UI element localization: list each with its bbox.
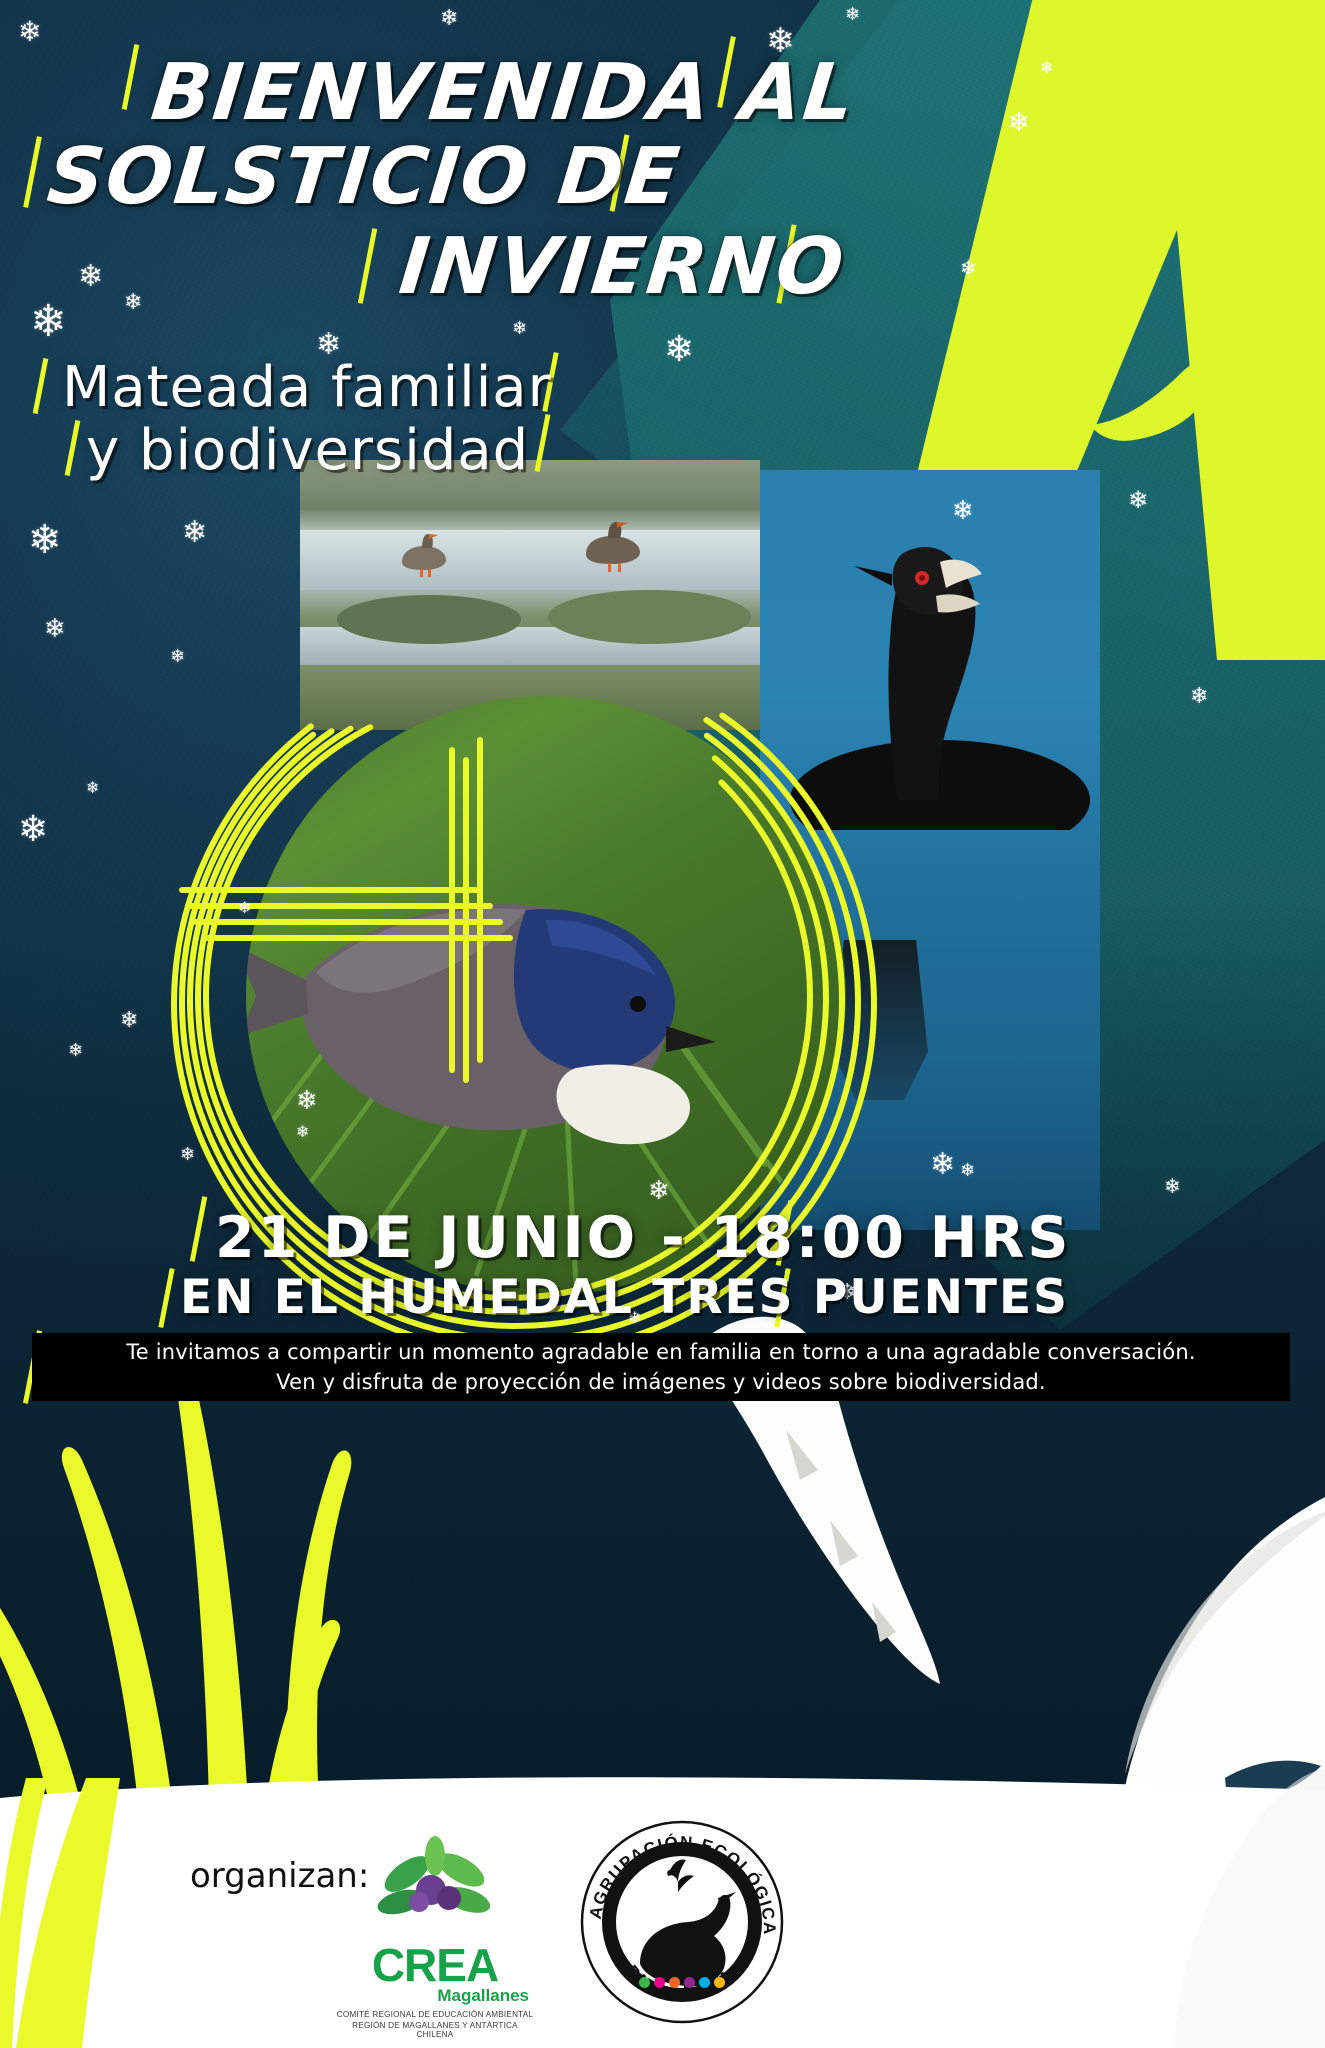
title-line-1: BIENVENIDA AL [147,48,860,138]
snowflake-icon: ❄ [296,1124,309,1140]
event-date-time: 21 DE JUNIO - 18:00 HRS [215,1205,1071,1271]
white-bird-tail [1025,1768,1325,2048]
snowflake-icon: ❄ [1164,1176,1181,1196]
yellow-grass-accent [0,1778,170,2048]
snowflake-icon: ❄ [170,648,185,666]
crea-logo: CREA Magallanes COMITÉ REGIONAL DE EDUCA… [335,1830,535,2035]
snowflake-icon: ❄ [120,1010,138,1032]
snowflake-icon: ❄ [86,780,99,796]
snowflake-icon: ❄ [124,292,142,314]
snowflake-icon: ❄ [952,498,974,524]
snowflake-icon: ❄ [18,812,48,848]
snowflake-icon: ❄ [960,258,977,278]
snowflake-icon: ❄ [845,6,860,24]
snowflake-icon: ❄ [296,1088,318,1114]
goose-silhouette-icon [578,520,648,574]
aep-color-dots [639,1977,725,1988]
snowflake-icon: ❄ [30,300,67,344]
title-line-2: SOLSTICIO DE [43,132,685,222]
subtitle-line-2: y biodiversidad [86,418,529,483]
snowflake-icon: ❄ [440,8,458,30]
crea-wordmark: CREA [335,1938,535,1992]
snowflake-icon: ❄ [960,1162,975,1180]
description-banner: Te invitamos a compartir un momento agra… [32,1333,1290,1401]
snowflake-icon: ❄ [512,320,527,338]
crea-subtitle-line-1: COMITÉ REGIONAL DE EDUCACIÓN AMBIENTAL [335,2010,535,2019]
snowflake-icon: ❄ [28,520,62,560]
snowflake-icon: ❄ [180,1146,195,1164]
goose-silhouette-icon [396,532,454,578]
event-venue: EN EL HUMEDAL TRES PUENTES [180,1270,1069,1325]
winter-solstice-poster: ❄ ❄ ❄ ❄ ❄ ❄ ❄ ❄ ❄ ❄ ❄ ❄ ❄ ❄ ❄ ❄ ❄ ❄ ❄ ❄ … [0,0,1325,2048]
banner-line-2: Ven y disfruta de proyección de imágenes… [276,1367,1046,1397]
snowflake-icon: ❄ [648,1178,670,1204]
snowflake-icon: ❄ [238,900,251,916]
agrupacion-ecologica-patagonica-logo: AGRUPACIÓN ECOLÓGICA PATAGÓNICA [578,1818,786,2028]
snowflake-icon: ❄ [1008,110,1030,136]
snowflake-icon: ❄ [44,616,66,642]
crea-berries-leaves-icon [335,1828,535,1938]
snowflake-icon: ❄ [18,18,41,46]
snowflake-icon: ❄ [182,518,207,548]
title-line-3: INVIERNO [395,222,849,312]
snowflake-icon: ❄ [68,1042,83,1060]
footer-organizers: organizan: CREA Magallanes COMITÉ REGION… [0,1808,1325,2048]
subtitle-line-1: Mateada familiar [62,355,552,420]
snowflake-icon: ❄ [664,332,694,368]
snowflake-icon: ❄ [78,262,103,292]
snowflake-icon: ❄ [1040,60,1053,76]
crea-subtitle-line-2: REGIÓN DE MAGALLANES Y ANTÁRTICA CHILENA [335,2021,535,2039]
crea-region-label: Magallanes [335,1986,535,2006]
banner-line-1: Te invitamos a compartir un momento agra… [126,1337,1195,1367]
snowflake-icon: ❄ [1128,488,1148,512]
snowflake-icon: ❄ [1190,686,1208,708]
snowflake-icon: ❄ [930,1150,955,1180]
aep-logo-graphic: AGRUPACIÓN ECOLÓGICA PATAGÓNICA [578,1818,786,2026]
